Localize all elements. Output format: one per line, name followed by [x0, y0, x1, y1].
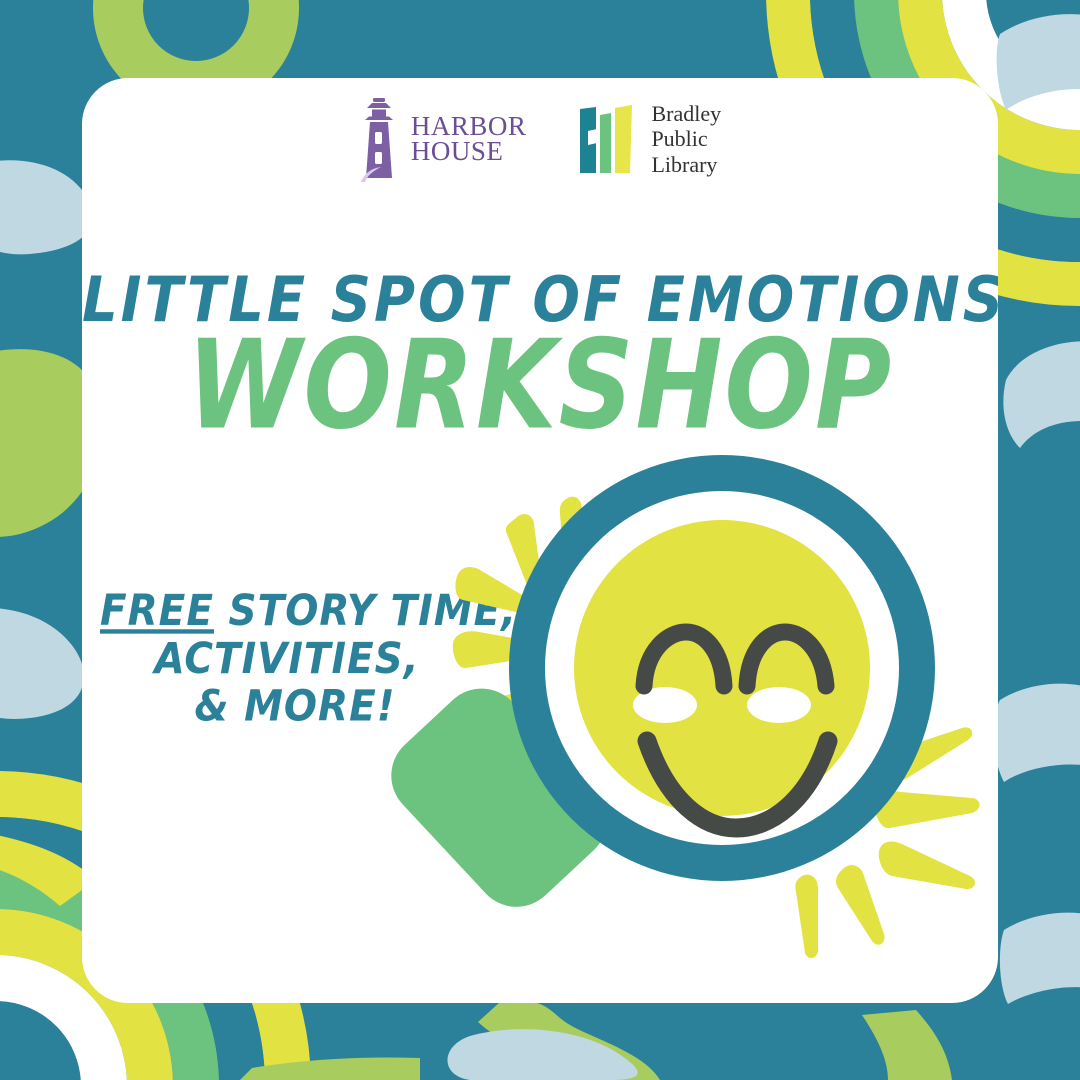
bpl-wordmark: Bradley Public Library: [651, 101, 721, 176]
bpl-line1: Bradley: [651, 101, 721, 126]
logo-row: HARBOR HOUSE Bradley Public Library: [82, 96, 998, 182]
free-word: FREE: [100, 586, 214, 636]
white-content-card: HARBOR HOUSE Bradley Public Library: [82, 78, 998, 1003]
bpl-line3: Library: [651, 152, 721, 177]
cheek-right: [747, 687, 811, 723]
harbor-house-wordmark: HARBOR HOUSE: [411, 114, 527, 164]
books-icon: [578, 103, 638, 175]
poster-canvas: HARBOR HOUSE Bradley Public Library: [0, 0, 1080, 1080]
magnifying-glass-graphic: [272, 398, 992, 998]
harbor-house-line2: HOUSE: [411, 139, 527, 164]
lighthouse-icon: [359, 96, 405, 182]
harbor-house-logo: HARBOR HOUSE: [359, 96, 527, 182]
bradley-public-library-logo: Bradley Public Library: [578, 101, 721, 176]
bpl-line2: Public: [651, 126, 721, 151]
